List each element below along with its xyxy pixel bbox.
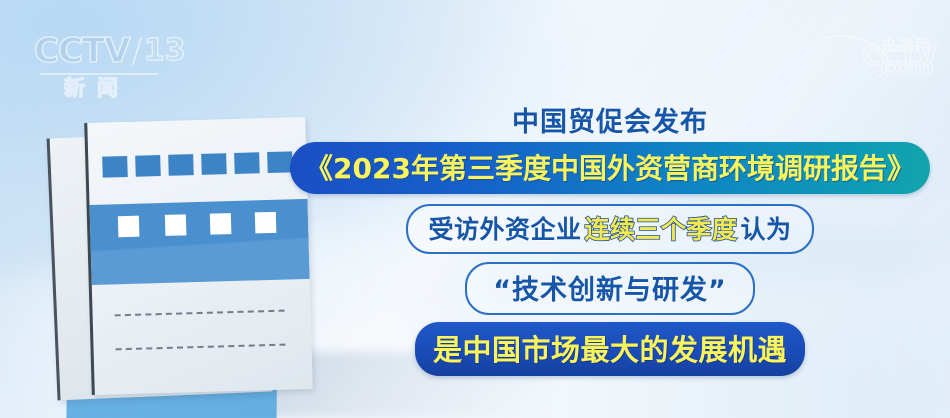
- cctv-logo-slash: /: [131, 34, 142, 68]
- headline-line-3-prefix: 受访外资企业: [428, 210, 581, 246]
- cctv13-logo-row: CCTV / 13: [34, 30, 184, 72]
- cctv13-logo: CCTV / 13 新闻: [34, 30, 184, 102]
- document-blue-band: [90, 199, 310, 285]
- quoted-topic-pill: “技术创新与研发”: [465, 262, 755, 315]
- document-dashed-line: [116, 344, 286, 351]
- header-square: [201, 153, 227, 175]
- broadcast-graphic-frame: CCTV / 13 新闻 央视网 CCTV com: [0, 0, 950, 418]
- headline-line-3: 受访外资企业 连续三个季度 认为: [300, 204, 920, 254]
- headline-line-1: 中国贸促会发布: [300, 100, 920, 139]
- respondents-pill: 受访外资企业 连续三个季度 认为: [406, 204, 813, 254]
- headline-line-1-text: 中国贸促会发布: [512, 100, 708, 139]
- cctv-wordmark: CCTV: [34, 34, 129, 68]
- header-square: [135, 155, 161, 177]
- headline-line-2-text: 《2023年第三季度中国外资营商环境调研报告》: [305, 147, 915, 187]
- headline-line-2: 《2023年第三季度中国外资营商环境调研报告》: [300, 142, 920, 194]
- document-front-sheet: [84, 117, 313, 395]
- headline-line-3-highlight: 连续三个季度: [584, 210, 737, 246]
- band-white-square: [210, 213, 232, 235]
- headline-line-5-text: 是中国市场最大的发展机遇: [433, 327, 787, 369]
- headline-line-3-suffix: 认为: [741, 210, 792, 246]
- header-square: [168, 154, 194, 176]
- cctv-com-watermark: 央视网 CCTV com: [768, 34, 936, 80]
- cctv-channel-number: 13: [144, 36, 186, 66]
- headline-line-4: “技术创新与研发”: [300, 262, 920, 315]
- watermark-tld-text: com: [881, 56, 934, 79]
- band-white-square: [118, 216, 140, 238]
- header-square: [267, 151, 293, 173]
- band-white-square: [165, 214, 187, 236]
- conclusion-pill: 是中国市场最大的发展机遇: [415, 322, 805, 376]
- band-white-square: [255, 212, 277, 234]
- report-title-pill: 《2023年第三季度中国外资营商环境调研报告》: [290, 142, 930, 194]
- headline-text-block: 中国贸促会发布 《2023年第三季度中国外资营商环境调研报告》 受访外资企业 连…: [300, 100, 920, 390]
- document-dashed-line: [115, 310, 285, 317]
- document-header-squares: [102, 151, 293, 177]
- header-square: [102, 156, 128, 178]
- cctv-channel-name: 新闻: [64, 77, 184, 100]
- headline-line-4-text: “技术创新与研发”: [493, 268, 727, 307]
- cctv-logo-underline: [40, 73, 158, 75]
- header-square: [234, 152, 260, 174]
- headline-line-5: 是中国市场最大的发展机遇: [300, 322, 920, 376]
